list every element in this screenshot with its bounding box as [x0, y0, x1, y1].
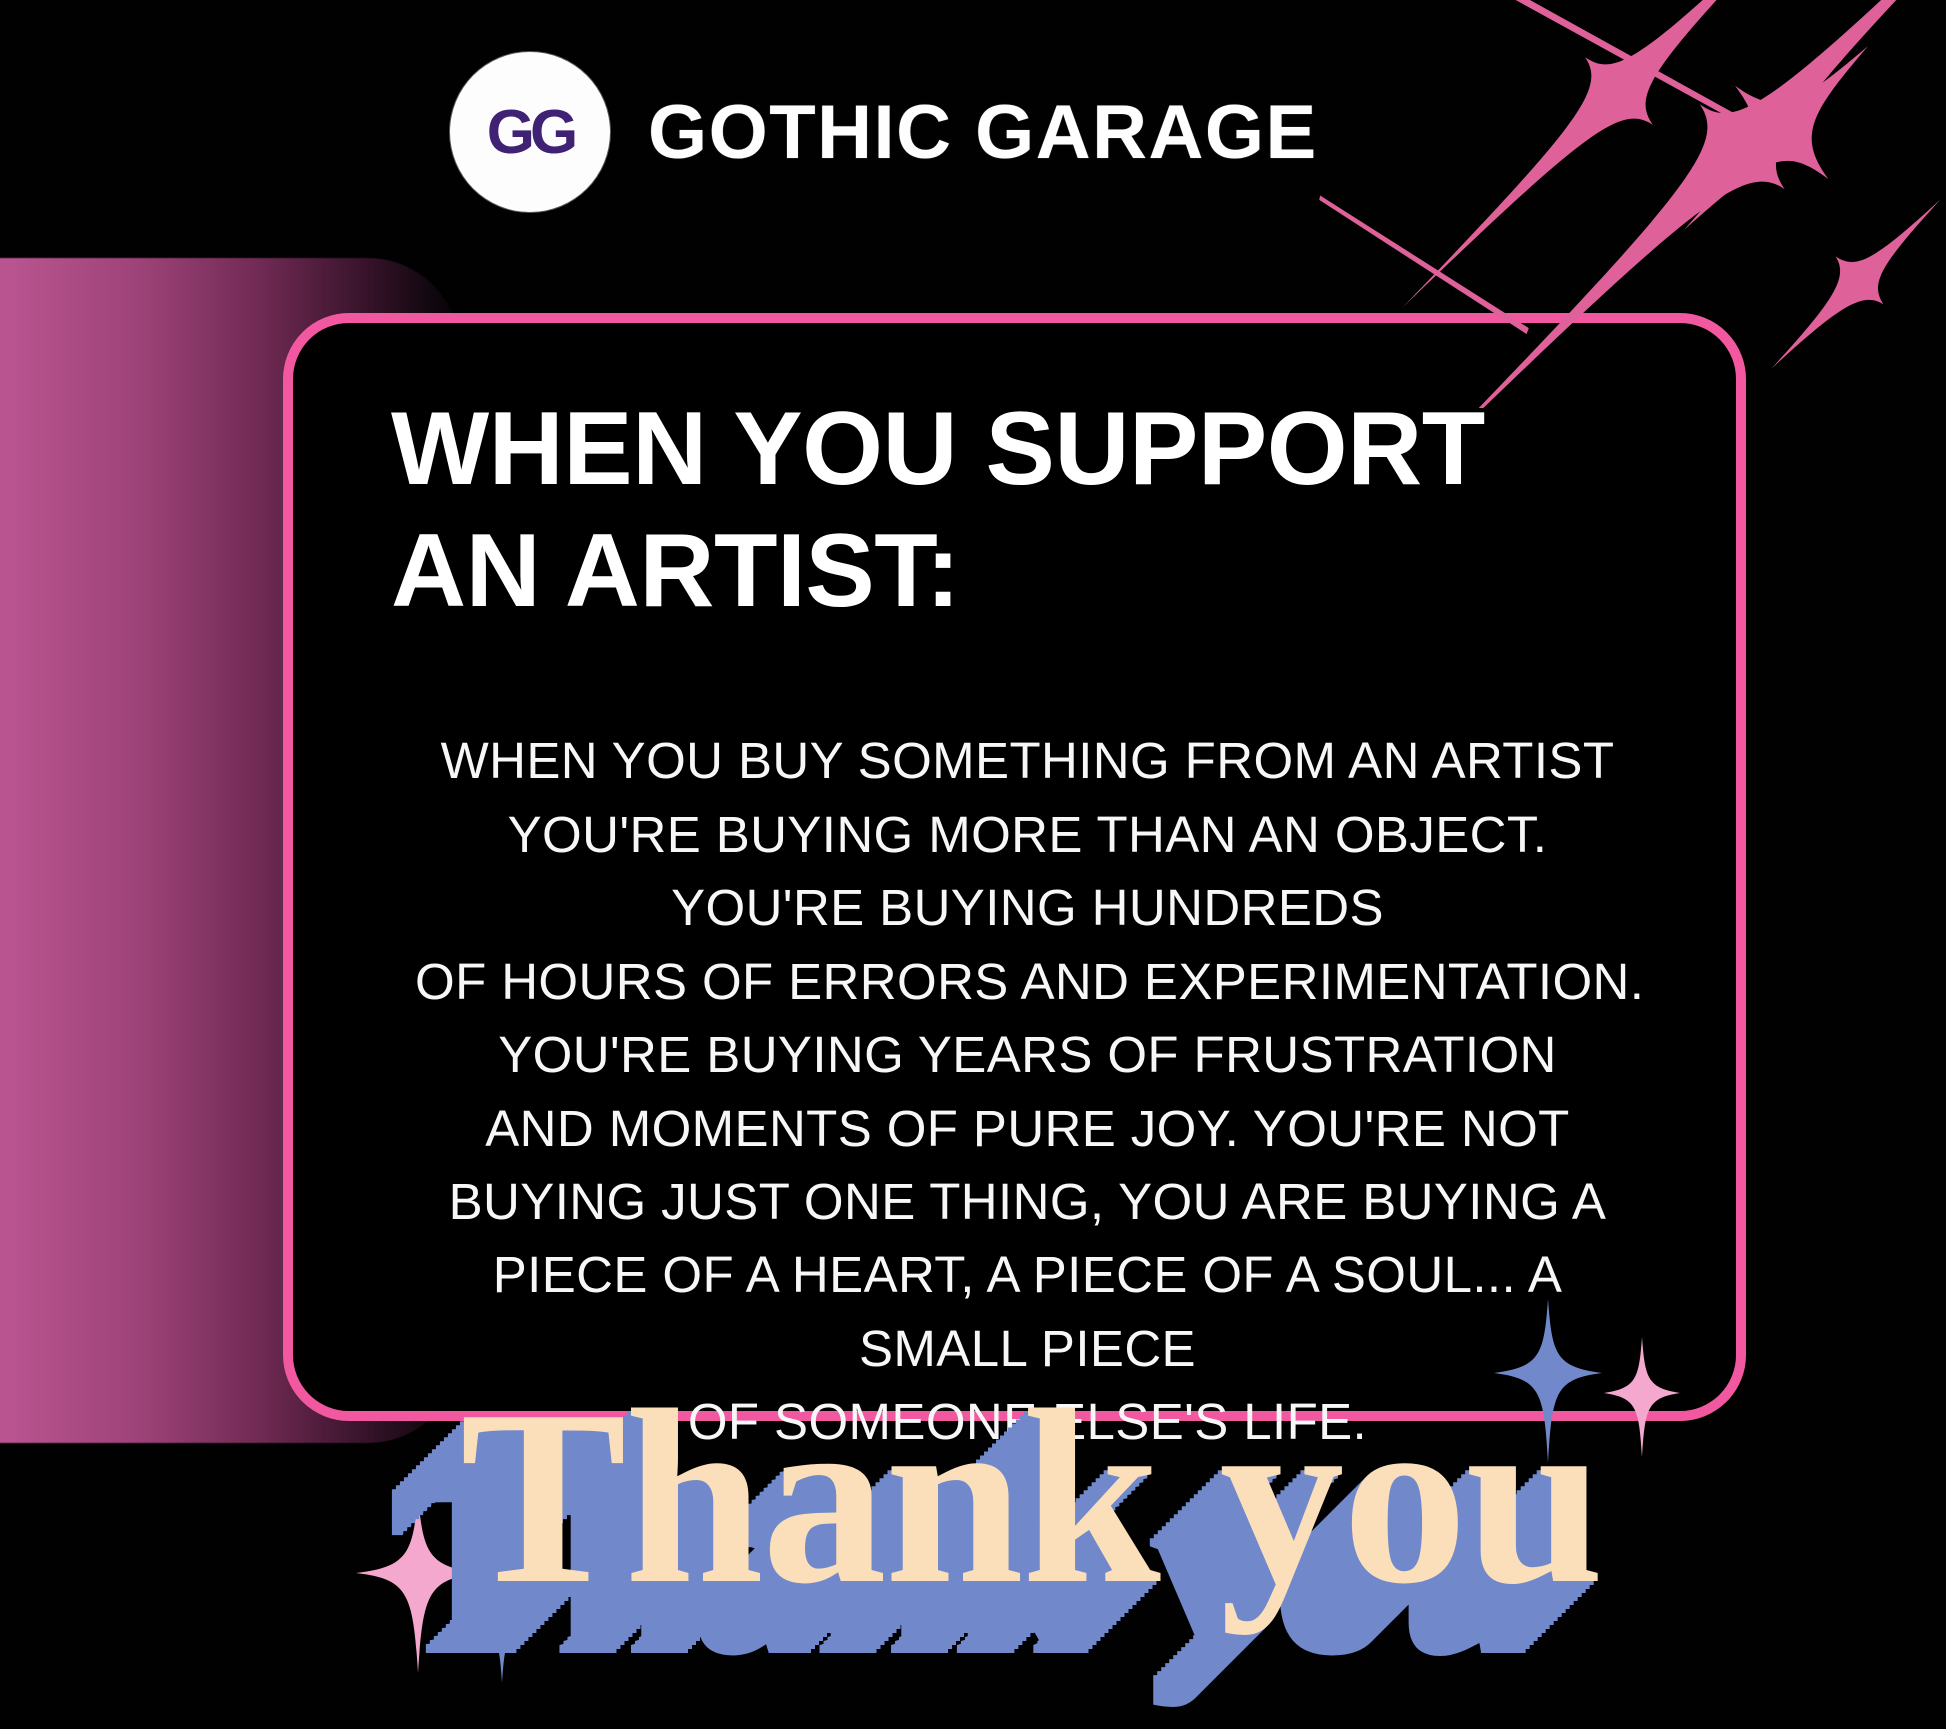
headline-line-2: AN ARTIST: [391, 511, 1664, 633]
body-line: WHEN YOU BUY SOMETHING FROM AN ARTIST [415, 724, 1640, 797]
body-line: BUYING JUST ONE THING, YOU ARE BUYING A [415, 1165, 1640, 1238]
bottom-sparkle-cluster [338, 1487, 638, 1707]
brand-name: GOTHIC GARAGE [648, 89, 1318, 176]
gg-monogram-logo: GG [450, 52, 610, 212]
headline-line-1: WHEN YOU SUPPORT [391, 389, 1664, 511]
body-line: PIECE OF A HEART, A PIECE OF A SOUL... A [415, 1238, 1640, 1311]
sparkle-glyph-group [356, 1495, 536, 1683]
body-line: YOU'RE BUYING YEARS OF FRUSTRATION [415, 1018, 1640, 1091]
quote-card: WHEN YOU SUPPORT AN ARTIST: WHEN YOU BUY… [283, 313, 1746, 1421]
body-line: AND MOMENTS OF PURE JOY. YOU'RE NOT [415, 1092, 1640, 1165]
quote-card-content: WHEN YOU SUPPORT AN ARTIST: WHEN YOU BUY… [293, 323, 1736, 1411]
logo-monogram-text: GG [487, 102, 573, 164]
page-title: WHEN YOU SUPPORT AN ARTIST: [391, 389, 1664, 632]
quote-body: WHEN YOU BUY SOMETHING FROM AN ARTIST YO… [391, 724, 1664, 1458]
body-line: SMALL PIECE [415, 1312, 1640, 1385]
body-line: YOU'RE BUYING MORE THAN AN OBJECT. [415, 798, 1640, 871]
brand-header: GG GOTHIC GARAGE [450, 52, 1318, 212]
poster-canvas: GG GOTHIC GARAGE WHEN YOU SUPPORT AN ART… [0, 0, 1946, 1729]
blue-sparkle-icon [468, 1573, 536, 1683]
body-line: OF HOURS OF ERRORS AND EXPERIMENTATION. [415, 945, 1640, 1018]
body-line: OF SOMEONE ELSE'S LIFE. [415, 1385, 1640, 1458]
body-line: YOU'RE BUYING HUNDREDS [415, 871, 1640, 944]
pink-sparkle-icon [356, 1495, 480, 1673]
